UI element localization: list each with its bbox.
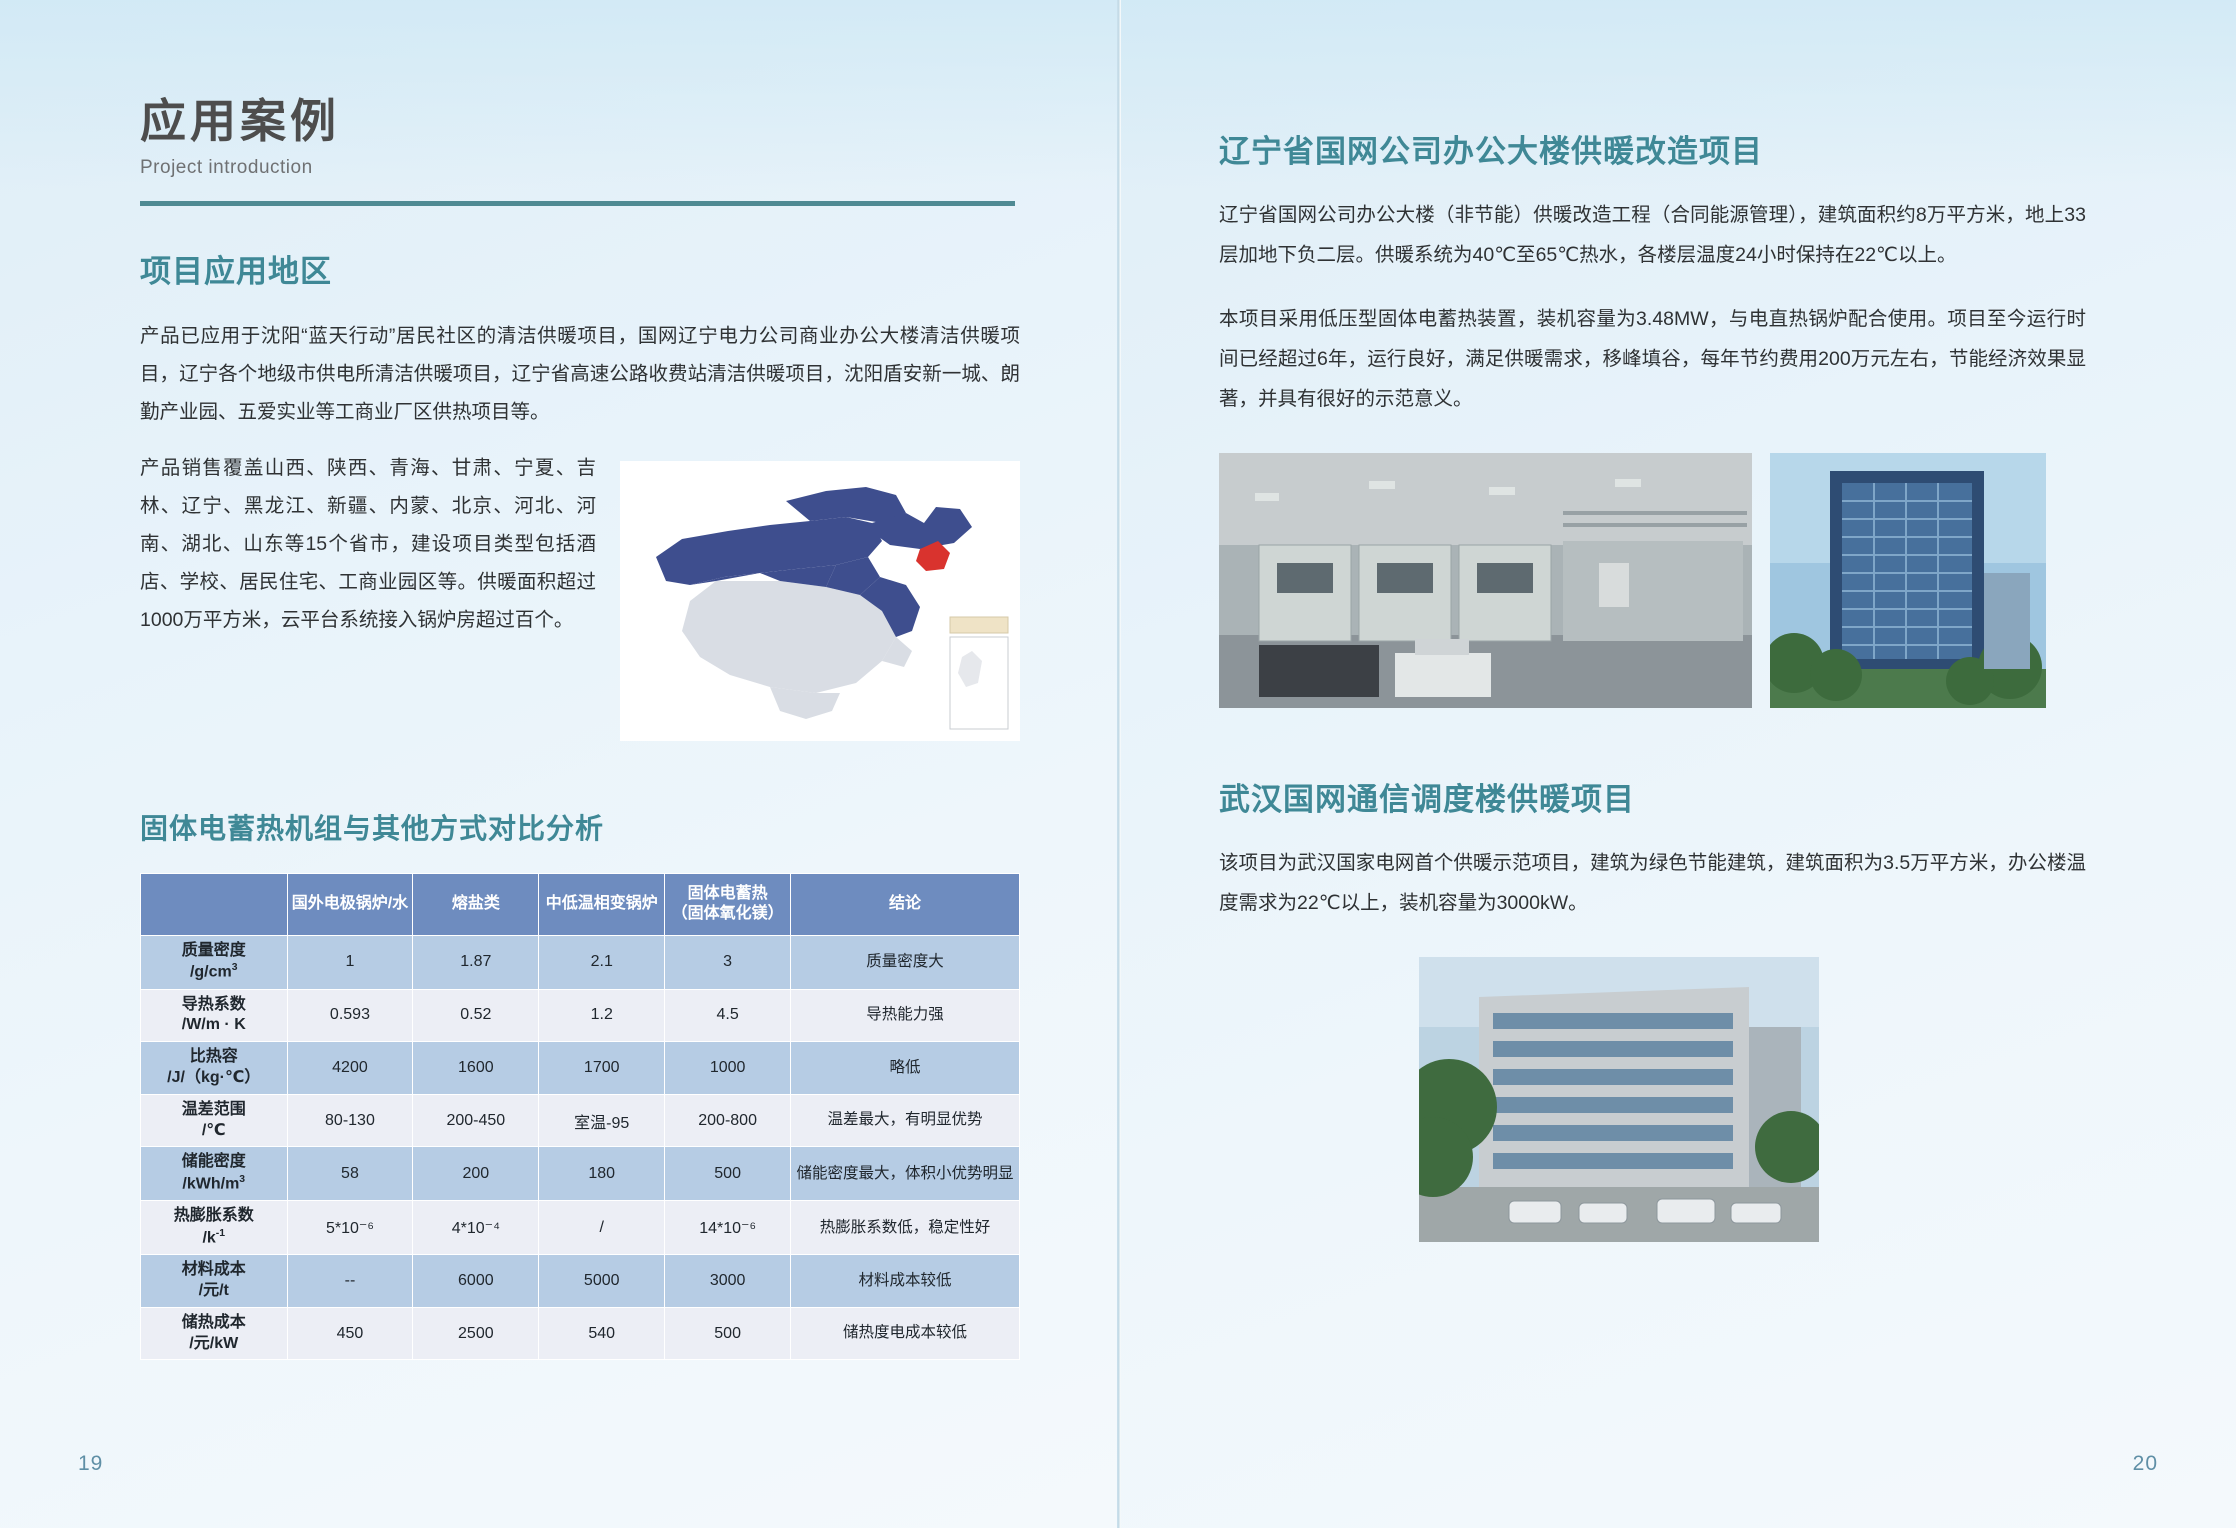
table-cell-conclusion: 储热度电成本较低 xyxy=(791,1307,1020,1360)
table-cell-value: 1000 xyxy=(665,1042,791,1095)
table-header: 国外电极锅炉/水 熔盐类 中低温相变锅炉 固体电蓄热 （固体氧化镁） 结论 xyxy=(141,873,1020,935)
table-cell-value: 3000 xyxy=(665,1255,791,1308)
table-cell-value: 200-450 xyxy=(413,1094,539,1147)
table-body: 质量密度/g/cm311.872.13质量密度大导热系数/W/m · K0.59… xyxy=(141,935,1020,1360)
boiler-room-image xyxy=(1219,453,1752,708)
table-cell-conclusion: 导热能力强 xyxy=(791,989,1020,1042)
table-cell-value: 200-800 xyxy=(665,1094,791,1147)
table-cell-value: 500 xyxy=(665,1307,791,1360)
boiler-room-photo xyxy=(1219,453,1752,708)
table-cell-conclusion: 储能密度最大，体积小优势明显 xyxy=(791,1147,1020,1201)
comparison-table: 国外电极锅炉/水 熔盐类 中低温相变锅炉 固体电蓄热 （固体氧化镁） 结论 质量… xyxy=(140,873,1020,1361)
table-cell-value: 3 xyxy=(665,935,791,989)
table-title: 固体电蓄热机组与其他方式对比分析 xyxy=(140,807,1117,847)
table-cell-value: 1700 xyxy=(539,1042,665,1095)
table-row: 材料成本/元/t--600050003000材料成本较低 xyxy=(141,1255,1020,1308)
table-cell-conclusion: 温差最大，有明显优势 xyxy=(791,1094,1020,1147)
table-header-electrode-boiler: 国外电极锅炉/水 xyxy=(287,873,413,935)
table-cell-conclusion: 略低 xyxy=(791,1042,1020,1095)
china-map-figure xyxy=(620,461,1020,741)
table-header-solid-storage-line2: （固体氧化镁） xyxy=(672,905,784,922)
table-row: 热膨胀系数/k-15*10⁻⁶4*10⁻⁴/14*10⁻⁶热膨胀系数低，稳定性好 xyxy=(141,1201,1020,1255)
table-header-molten-salt: 熔盐类 xyxy=(413,873,539,935)
table-cell-value: 450 xyxy=(287,1307,413,1360)
china-map-icon xyxy=(620,461,1020,741)
table-cell-value: 0.52 xyxy=(413,989,539,1042)
paragraph-text: 产品已应用于沈阳“蓝天行动”居民社区的清洁供暖项目，国网辽宁电力公司商业办公大楼… xyxy=(140,317,1020,431)
table-cell-value: 2.1 xyxy=(539,935,665,989)
table-row: 质量密度/g/cm311.872.13质量密度大 xyxy=(141,935,1020,989)
table-cell-conclusion: 热膨胀系数低，稳定性好 xyxy=(791,1201,1020,1255)
text-with-map-block: 产品销售覆盖山西、陕西、青海、甘肃、宁夏、吉林、辽宁、黑龙江、新疆、内蒙、北京、… xyxy=(140,449,1020,747)
wuhan-building-image xyxy=(1419,957,1819,1242)
wuhan-building-photo xyxy=(1419,957,1819,1242)
table-header-conclusion: 结论 xyxy=(791,873,1020,935)
table-row-label: 温差范围/℃ xyxy=(141,1094,288,1147)
table-row-label: 储热成本/元/kW xyxy=(141,1307,288,1360)
table-cell-value: 180 xyxy=(539,1147,665,1201)
application-paragraph-1: 产品已应用于沈阳“蓝天行动”居民社区的清洁供暖项目，国网辽宁电力公司商业办公大楼… xyxy=(140,317,1020,431)
table-cell-conclusion: 材料成本较低 xyxy=(791,1255,1020,1308)
page-title: 应用案例 xyxy=(140,96,1117,147)
page-number-left: 19 xyxy=(78,1452,103,1476)
table-header-solid-storage: 固体电蓄热 （固体氧化镁） xyxy=(665,873,791,935)
left-page: 应用案例 Project introduction 项目应用地区 产品已应用于沈… xyxy=(0,0,1118,1528)
table-cell-value: -- xyxy=(287,1255,413,1308)
table-cell-conclusion: 质量密度大 xyxy=(791,935,1020,989)
table-cell-value: 4200 xyxy=(287,1042,413,1095)
table-cell-value: / xyxy=(539,1201,665,1255)
table-cell-value: 5000 xyxy=(539,1255,665,1308)
project-liaoning-paragraph-1: 辽宁省国网公司办公大楼（非节能）供暖改造工程（合同能源管理），建筑面积约8万平方… xyxy=(1219,195,2086,275)
brochure-spread: 应用案例 Project introduction 项目应用地区 产品已应用于沈… xyxy=(0,0,2236,1528)
table-cell-value: 540 xyxy=(539,1307,665,1360)
table-cell-value: 14*10⁻⁶ xyxy=(665,1201,791,1255)
right-page: 辽宁省国网公司办公大楼供暖改造项目 辽宁省国网公司办公大楼（非节能）供暖改造工程… xyxy=(1118,0,2236,1528)
table-header-row: 国外电极锅炉/水 熔盐类 中低温相变锅炉 固体电蓄热 （固体氧化镁） 结论 xyxy=(141,873,1020,935)
section-title-application-region: 项目应用地区 xyxy=(140,246,1117,291)
table-cell-value: 6000 xyxy=(413,1255,539,1308)
table-row-label: 比热容/J/（kg·℃） xyxy=(141,1042,288,1095)
office-tower-photo xyxy=(1770,453,2046,708)
project-heading-liaoning: 辽宁省国网公司办公大楼供暖改造项目 xyxy=(1219,126,2086,171)
table-cell-value: 4*10⁻⁴ xyxy=(413,1201,539,1255)
table-row: 储热成本/元/kW4502500540500储热度电成本较低 xyxy=(141,1307,1020,1360)
project-liaoning-paragraph-2: 本项目采用低压型固体电蓄热装置，装机容量为3.48MW，与电直热锅炉配合使用。项… xyxy=(1219,299,2086,419)
table-cell-value: 1.87 xyxy=(413,935,539,989)
table-cell-value: 1.2 xyxy=(539,989,665,1042)
project-heading-wuhan: 武汉国网通信调度楼供暖项目 xyxy=(1219,774,2086,819)
table-header-blank xyxy=(141,873,288,935)
table-cell-value: 200 xyxy=(413,1147,539,1201)
table-cell-value: 80-130 xyxy=(287,1094,413,1147)
table-row: 导热系数/W/m · K0.5930.521.24.5导热能力强 xyxy=(141,989,1020,1042)
table-cell-value: 1 xyxy=(287,935,413,989)
table-header-solid-storage-line1: 固体电蓄热 xyxy=(688,885,768,902)
table-row-label: 储能密度/kWh/m3 xyxy=(141,1147,288,1201)
project-liaoning-photos xyxy=(1219,453,2086,708)
table-row: 比热容/J/（kg·℃）4200160017001000略低 xyxy=(141,1042,1020,1095)
office-tower-image xyxy=(1770,453,2046,708)
table-cell-value: 室温-95 xyxy=(539,1094,665,1147)
page-subtitle: Project introduction xyxy=(140,157,1117,179)
table-cell-value: 1600 xyxy=(413,1042,539,1095)
table-row-label: 导热系数/W/m · K xyxy=(141,989,288,1042)
table-cell-value: 0.593 xyxy=(287,989,413,1042)
table-row: 储能密度/kWh/m358200180500储能密度最大，体积小优势明显 xyxy=(141,1147,1020,1201)
spread-gutter xyxy=(1118,0,1121,1528)
table-cell-value: 5*10⁻⁶ xyxy=(287,1201,413,1255)
table-cell-value: 2500 xyxy=(413,1307,539,1360)
page-number-right: 20 xyxy=(2133,1452,2158,1476)
table-row-label: 质量密度/g/cm3 xyxy=(141,935,288,989)
project-wuhan-paragraph-1: 该项目为武汉国家电网首个供暖示范项目，建筑为绿色节能建筑，建筑面积为3.5万平方… xyxy=(1219,843,2086,923)
table-cell-value: 58 xyxy=(287,1147,413,1201)
table-header-phase-change-boiler: 中低温相变锅炉 xyxy=(539,873,665,935)
table-row-label: 材料成本/元/t xyxy=(141,1255,288,1308)
table-row-label: 热膨胀系数/k-1 xyxy=(141,1201,288,1255)
table-cell-value: 4.5 xyxy=(665,989,791,1042)
title-divider xyxy=(140,201,1015,206)
table-cell-value: 500 xyxy=(665,1147,791,1201)
table-row: 温差范围/℃80-130200-450室温-95200-800温差最大，有明显优… xyxy=(141,1094,1020,1147)
